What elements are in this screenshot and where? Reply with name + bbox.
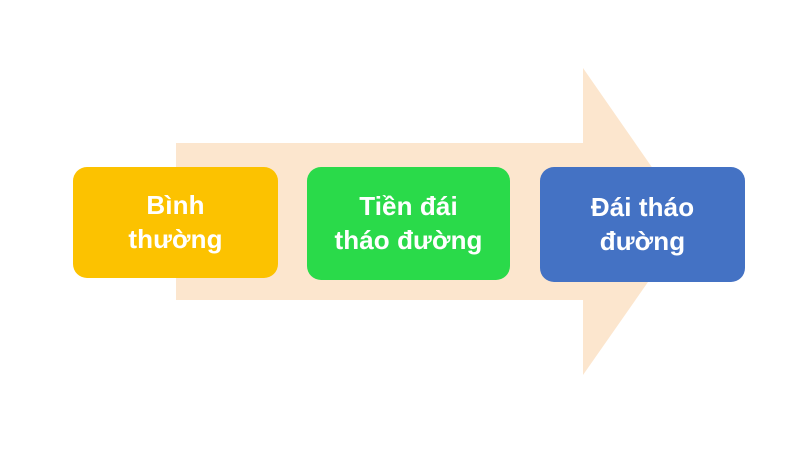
diagram-canvas: Bình thường Tiền đái tháo đường Đái tháo… bbox=[0, 0, 800, 450]
stage-label-dai-thao-duong: Đái tháo đường bbox=[581, 191, 704, 258]
stage-label-tien-dai-thao-duong: Tiền đái tháo đường bbox=[324, 190, 492, 257]
stage-box-tien-dai-thao-duong[interactable]: Tiền đái tháo đường bbox=[307, 167, 510, 280]
stage-box-dai-thao-duong[interactable]: Đái tháo đường bbox=[540, 167, 745, 282]
stage-label-binh-thuong: Bình thường bbox=[118, 189, 232, 256]
stage-box-binh-thuong[interactable]: Bình thường bbox=[73, 167, 278, 278]
